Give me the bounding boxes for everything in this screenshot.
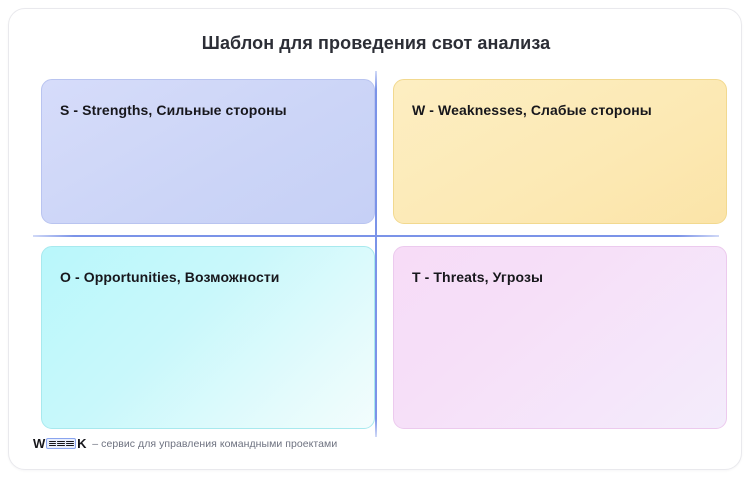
quadrant-threats[interactable]: T - Threats, Угрозы bbox=[393, 246, 727, 429]
swot-matrix: S - Strengths, Сильные стороны W - Weakn… bbox=[33, 71, 719, 437]
logo-bar bbox=[57, 443, 64, 444]
logo-bar bbox=[49, 441, 56, 442]
quadrant-weaknesses[interactable]: W - Weaknesses, Слабые стороны bbox=[393, 79, 727, 224]
logo-bar bbox=[66, 443, 73, 444]
weeek-logo-text-end: K bbox=[77, 436, 86, 451]
divider-horizontal bbox=[33, 235, 719, 237]
weeek-logo[interactable]: W K bbox=[33, 436, 86, 451]
quadrant-threats-label: T - Threats, Угрозы bbox=[412, 269, 543, 285]
footer: W K – сервис для у bbox=[33, 436, 337, 451]
quadrant-opportunities[interactable]: O - Opportunities, Возможности bbox=[41, 246, 375, 429]
divider-vertical bbox=[375, 71, 377, 437]
logo-bar-column bbox=[49, 441, 56, 447]
weeek-bars-icon bbox=[46, 438, 76, 449]
quadrant-opportunities-label: O - Opportunities, Возможности bbox=[60, 269, 280, 285]
weeek-logo-text-start: W bbox=[33, 436, 45, 451]
logo-bar bbox=[66, 445, 73, 446]
swot-template-card: Шаблон для проведения свот анализа S - S… bbox=[8, 8, 742, 470]
logo-bar-column bbox=[57, 441, 64, 447]
quadrant-weaknesses-label: W - Weaknesses, Слабые стороны bbox=[412, 102, 652, 118]
logo-bar-column bbox=[66, 441, 73, 447]
logo-bar bbox=[49, 443, 56, 444]
logo-bar bbox=[49, 445, 56, 446]
logo-bar bbox=[66, 441, 73, 442]
quadrant-strengths[interactable]: S - Strengths, Сильные стороны bbox=[41, 79, 375, 224]
footer-tagline: – сервис для управления командными проек… bbox=[92, 438, 337, 450]
logo-bar bbox=[57, 445, 64, 446]
page-title: Шаблон для проведения свот анализа bbox=[9, 33, 743, 54]
logo-bar bbox=[57, 441, 64, 442]
quadrant-strengths-label: S - Strengths, Сильные стороны bbox=[60, 102, 287, 118]
